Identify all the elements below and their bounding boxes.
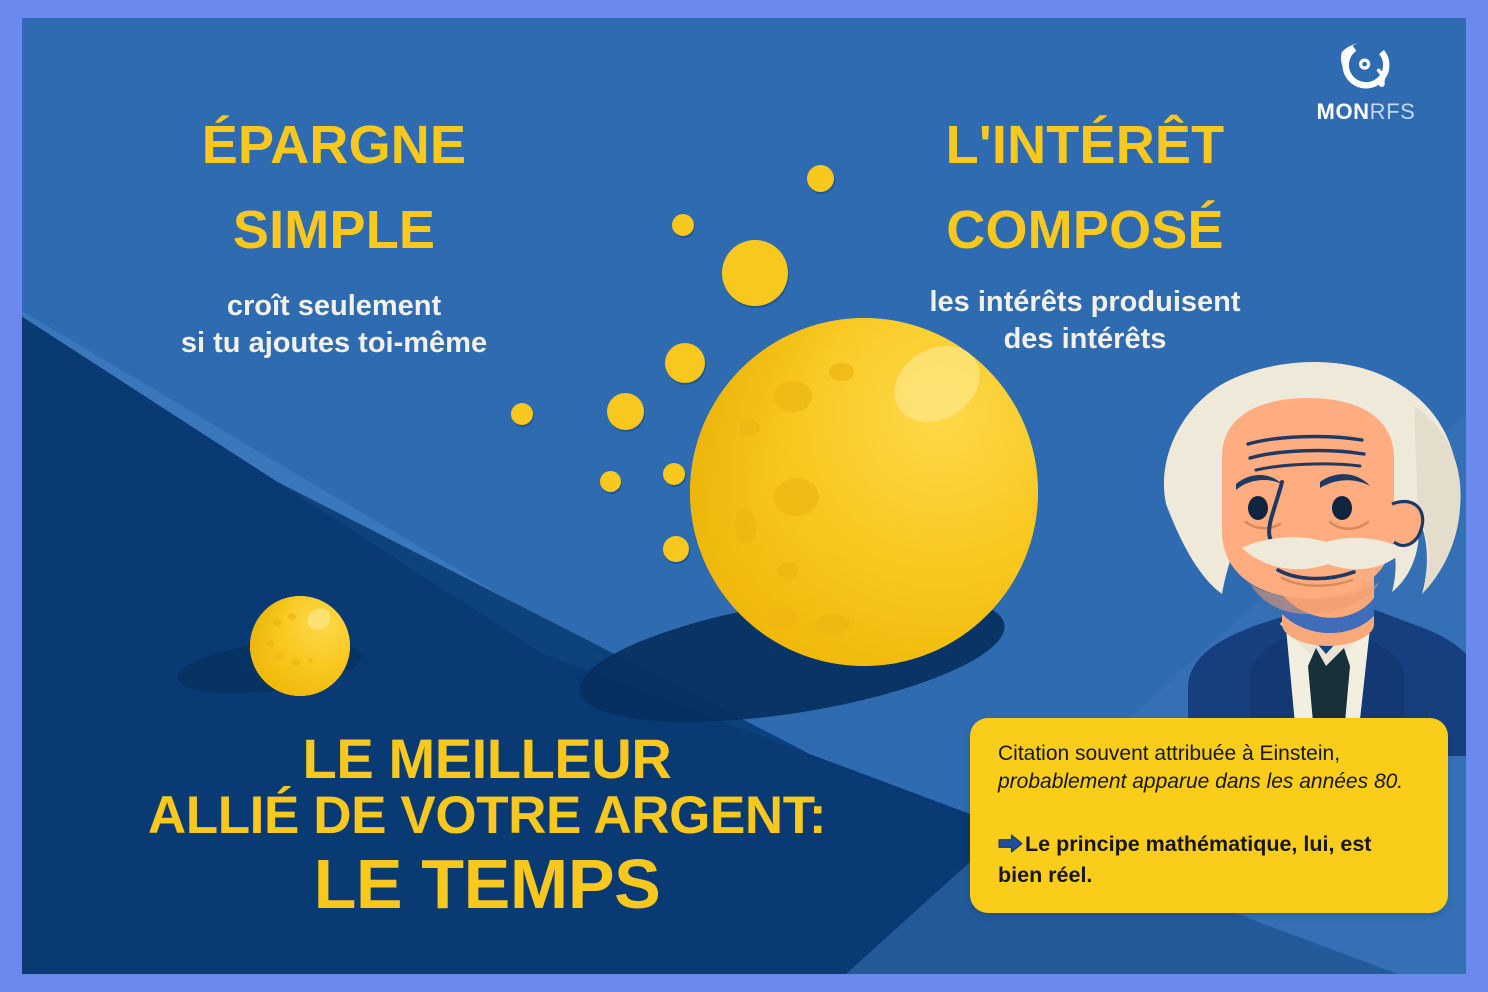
brand-logo[interactable]: MONRFS: [1306, 38, 1426, 125]
headline-line3: LE TEMPS: [92, 847, 882, 922]
coin-dot: [600, 471, 621, 492]
brand-wordmark: MONRFS: [1317, 99, 1416, 124]
savings-subtitle-line2: si tu ajoutes toi-même: [114, 325, 554, 362]
savings-block: ÉPARGNE SIMPLE croît seulement si tu ajo…: [114, 118, 554, 362]
main-headline: LE MEILLEUR ALLIÉ DE VOTRE ARGENT: LE TE…: [92, 729, 882, 923]
savings-title: ÉPARGNE SIMPLE: [114, 118, 554, 258]
small-gold-coin: [250, 596, 350, 696]
coin-terminator: [250, 596, 350, 696]
coin-crater: [276, 653, 283, 659]
coin-crater: [774, 478, 819, 516]
coin-dot: [663, 536, 689, 562]
poster-stage: ÉPARGNE SIMPLE croît seulement si tu ajo…: [22, 18, 1466, 974]
coin-crater: [266, 640, 274, 647]
coin-crater: [774, 381, 812, 412]
einstein-portrait: [1130, 336, 1466, 756]
savings-subtitle-line1: croît seulement: [114, 288, 554, 325]
headline-line2: ALLIÉ DE VOTRE ARGENT:: [92, 788, 882, 845]
compound-title-line1: L'INTÉRÊT: [946, 115, 1225, 175]
coin-dot: [665, 343, 705, 383]
compound-subtitle-line1: les intérêts produisent: [860, 284, 1310, 321]
savings-title-line2: SIMPLE: [114, 203, 554, 258]
einstein-eye-right: [1332, 496, 1352, 520]
compound-title-line2: COMPOSÉ: [860, 203, 1310, 258]
brand-name-primary: MON: [1317, 99, 1370, 124]
callout-bold-text: Le principe mathématique, lui, est bien …: [998, 832, 1371, 887]
aperture-circle-icon: [1306, 38, 1426, 97]
coin-dot: [607, 393, 644, 430]
right-arrow-icon: [998, 832, 1023, 861]
compound-interest-block: L'INTÉRÊT COMPOSÉ les intérêts produisen…: [860, 118, 1310, 358]
coin-crater: [815, 614, 850, 635]
coin-dot: [663, 463, 685, 485]
quote-callout-card: Citation souvent attribuée à Einstein, p…: [970, 718, 1448, 913]
savings-subtitle: croît seulement si tu ajoutes toi-même: [114, 288, 554, 362]
coin-crater: [273, 619, 282, 626]
compound-subtitle-line2: des intérêts: [860, 321, 1310, 358]
einstein-eye-left: [1248, 496, 1268, 520]
large-gold-coin: [690, 318, 1038, 666]
callout-attribution: Citation souvent attribuée à Einstein, p…: [998, 740, 1420, 796]
coin-dot: [807, 165, 834, 192]
coin-crater: [288, 613, 296, 620]
coin-crater: [308, 658, 313, 663]
coin-crater: [767, 607, 798, 628]
callout-plain-text: Citation souvent attribuée à Einstein,: [998, 742, 1340, 765]
callout-italic-text: probablement apparue dans les années 80.: [998, 770, 1403, 793]
coin-dot: [722, 240, 788, 306]
coin-crater: [829, 363, 853, 380]
coin-crater: [291, 659, 300, 666]
compound-title: L'INTÉRÊT COMPOSÉ: [860, 118, 1310, 258]
coin-terminator: [690, 318, 1038, 666]
callout-conclusion: Le principe mathématique, lui, est bien …: [998, 830, 1420, 890]
coin-dot: [511, 403, 533, 425]
coin-dot: [672, 214, 694, 236]
einstein-ear: [1392, 501, 1423, 545]
brand-name-secondary: RFS: [1370, 99, 1416, 124]
coin-crater: [739, 419, 760, 436]
infographic-poster: ÉPARGNE SIMPLE croît seulement si tu ajo…: [0, 0, 1488, 992]
compound-subtitle: les intérêts produisent des intérêts: [860, 284, 1310, 358]
savings-title-line1: ÉPARGNE: [202, 115, 466, 175]
headline-line1: LE MEILLEUR: [92, 729, 882, 789]
coin-crater: [777, 562, 798, 579]
